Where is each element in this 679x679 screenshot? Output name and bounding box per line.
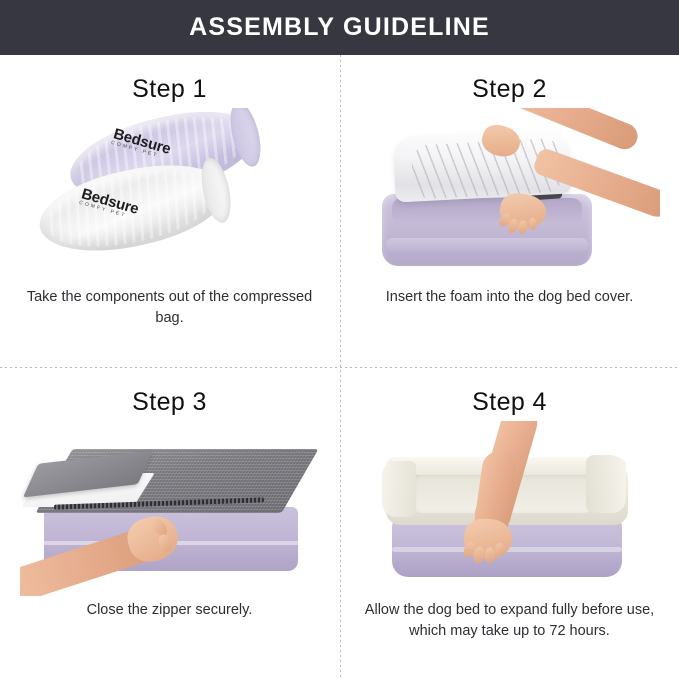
step-card-3: Step 3 Close the zipper securely. — [0, 368, 339, 679]
expand-bed-figure — [360, 421, 660, 596]
step-caption-2: Insert the foam into the dog bed cover. — [355, 287, 665, 308]
step-caption-3: Close the zipper securely. — [15, 600, 325, 621]
right-bolster — [586, 455, 626, 513]
step-title-2: Step 2 — [472, 77, 547, 102]
step-title-3: Step 3 — [132, 390, 207, 415]
step-card-4: Step 4 Allow the dog bed to expand fully… — [340, 368, 679, 679]
step-caption-4: Allow the dog bed to expand fully before… — [345, 600, 675, 642]
insert-foam-figure — [360, 108, 660, 283]
horizontal-divider — [0, 367, 679, 368]
step-caption-1: Take the components out of the compresse… — [15, 287, 325, 329]
step-card-2: Step 2 Insert the foam into the dog bed … — [340, 55, 679, 366]
finger — [494, 542, 505, 556]
cover-opening — [392, 198, 582, 224]
compressed-bags-figure: Bedsure COMFY PET Bedsure COMFY PET — [20, 108, 320, 283]
close-zipper-figure — [20, 421, 320, 596]
step-card-1: Step 1 Bedsure COMFY PET Bedsure COMFY P… — [0, 55, 339, 366]
step-title-1: Step 1 — [132, 77, 207, 102]
header-banner: ASSEMBLY GUIDELINE — [0, 0, 679, 55]
left-bolster — [382, 461, 416, 517]
cover-lip — [386, 238, 588, 252]
finger — [484, 547, 494, 563]
step-title-4: Step 4 — [472, 390, 547, 415]
page-title: ASSEMBLY GUIDELINE — [189, 15, 490, 40]
lavender-bed-cover — [382, 194, 592, 266]
finger — [156, 532, 174, 553]
finger — [528, 218, 536, 230]
